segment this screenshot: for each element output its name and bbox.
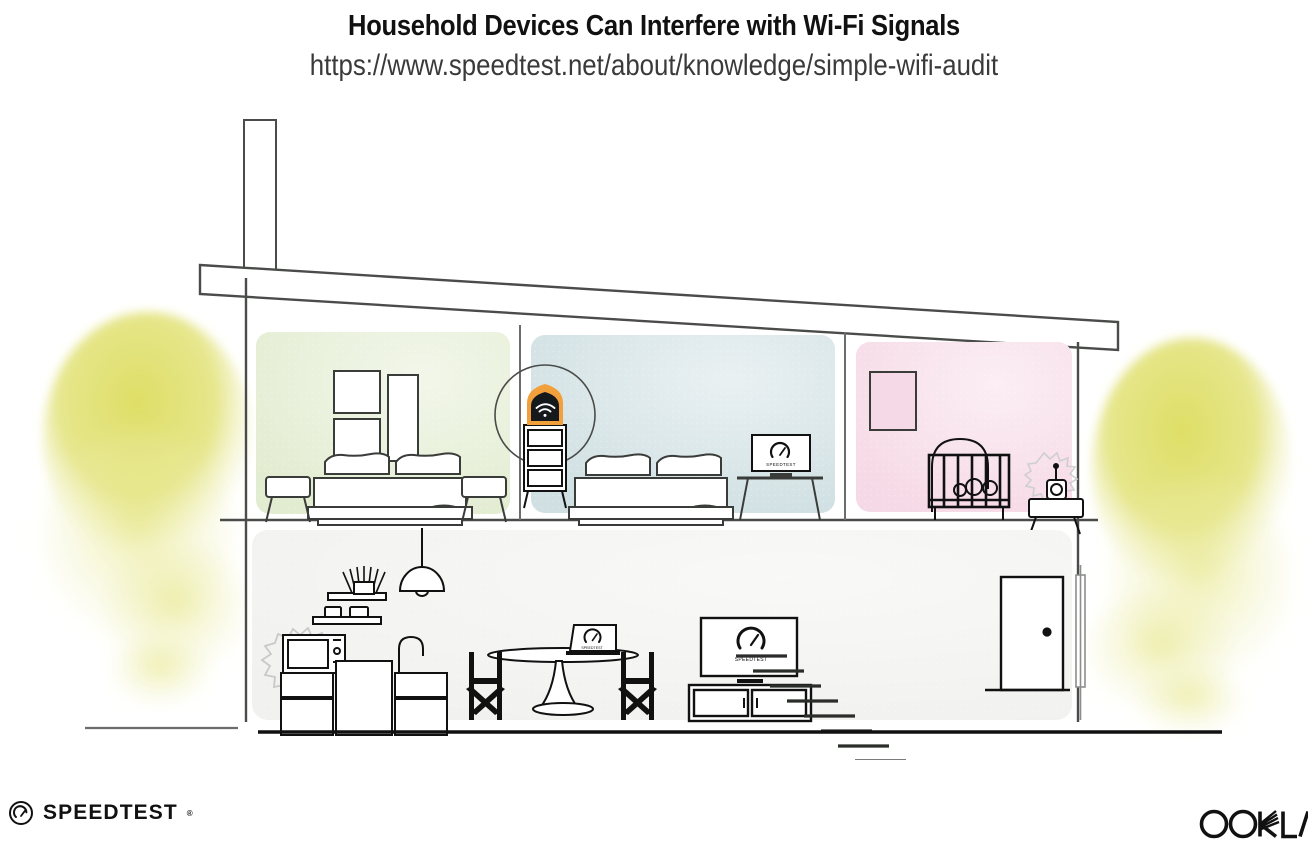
media-console [689, 685, 811, 721]
house-illustration: SPEEDTEST [0, 110, 1308, 760]
footer: SPEEDTEST ® [0, 780, 1308, 861]
pillow-left [325, 453, 389, 474]
chimney [244, 120, 276, 280]
bed-base [308, 507, 472, 519]
laptop: SPEEDTEST [566, 625, 620, 655]
pillow-right [657, 454, 721, 475]
header: Household Devices Can Interfere with Wi-… [0, 0, 1308, 83]
ookla-logo[interactable] [1196, 802, 1308, 847]
door-knob [1042, 627, 1051, 636]
bowl-2 [350, 607, 368, 617]
side-table [1029, 499, 1083, 517]
bed-left [308, 453, 472, 525]
source-url: https://www.speedtest.net/about/knowledg… [92, 49, 1217, 83]
monitor-screen-label: SPEEDTEST [766, 462, 796, 467]
bed-center [569, 454, 733, 525]
bowl-1 [325, 607, 341, 617]
monitor-stand [770, 473, 792, 477]
house-cutaway-svg: SPEEDTEST [0, 110, 1308, 760]
speedtest-trademark-symbol: ® [187, 809, 193, 818]
tv-stand [737, 679, 763, 683]
wall-frame-tall [388, 375, 418, 461]
wall-frame-square-top [334, 371, 380, 413]
speedtest-gauge-icon [8, 800, 34, 826]
page-title: Household Devices Can Interfere with Wi-… [78, 10, 1229, 43]
kitchen-counter [281, 661, 447, 735]
pillow-left [586, 454, 650, 475]
ookla-wordmark-icon [1196, 802, 1308, 842]
bed-plinth [318, 519, 462, 525]
tv-screen-label: SPEEDTEST [735, 657, 767, 663]
wall-frame-nursery [870, 372, 916, 430]
speedtest-logo[interactable]: SPEEDTEST ® [8, 800, 193, 826]
speedtest-logo-text: SPEEDTEST [43, 801, 178, 825]
television: SPEEDTEST [701, 618, 797, 683]
pillow-right [396, 453, 460, 474]
tree-left [42, 312, 253, 706]
bed-plinth [579, 519, 723, 525]
infographic-page: Household Devices Can Interfere with Wi-… [0, 0, 1308, 861]
tree-right [1088, 338, 1292, 734]
bed-base [569, 507, 733, 519]
laptop-screen-label: SPEEDTEST [581, 646, 603, 650]
